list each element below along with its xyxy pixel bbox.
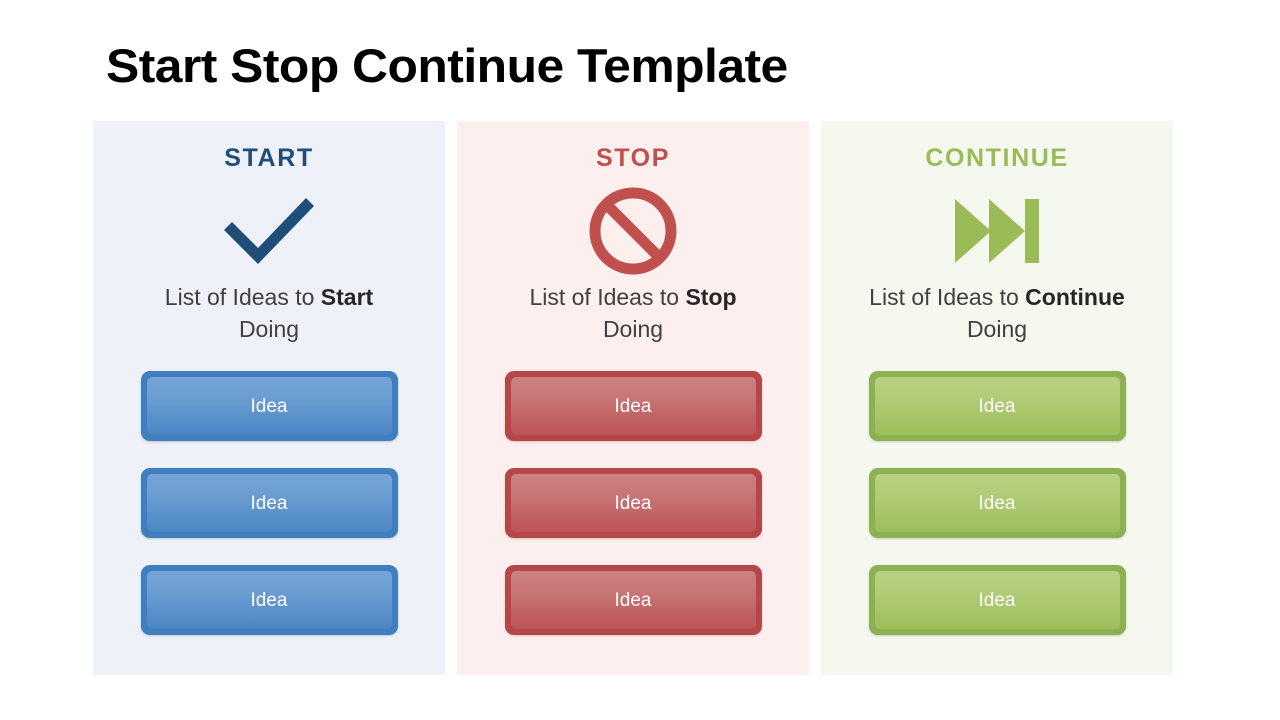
- caption-emphasis-continue: Continue: [1025, 284, 1125, 310]
- idea-button-label: Idea: [615, 494, 652, 513]
- idea-button[interactable]: Idea: [869, 565, 1126, 635]
- column-heading-continue: CONTINUE: [925, 146, 1068, 171]
- column-stop: STOP List of Ideas to Stop Doing Idea Id…: [457, 121, 809, 675]
- idea-button-label: Idea: [251, 494, 288, 513]
- caption-suffix-stop: Doing: [603, 316, 663, 342]
- idea-button[interactable]: Idea: [869, 371, 1126, 441]
- idea-button-label: Idea: [979, 591, 1016, 610]
- idea-button-label: Idea: [979, 397, 1016, 416]
- caption-suffix-start: Doing: [239, 316, 299, 342]
- idea-button[interactable]: Idea: [141, 468, 398, 538]
- idea-button-label: Idea: [251, 397, 288, 416]
- idea-button-label: Idea: [615, 397, 652, 416]
- caption-prefix-start: List of Ideas to: [165, 284, 321, 310]
- caption-suffix-continue: Doing: [967, 316, 1027, 342]
- idea-button-label: Idea: [979, 494, 1016, 513]
- caption-prefix-stop: List of Ideas to: [529, 284, 685, 310]
- column-heading-start: START: [224, 146, 313, 171]
- caption-prefix-continue: List of Ideas to: [869, 284, 1025, 310]
- column-continue: CONTINUE List of Ideas to Continue Doing…: [821, 121, 1173, 675]
- column-caption-stop: List of Ideas to Stop Doing: [498, 281, 768, 345]
- idea-button[interactable]: Idea: [505, 371, 762, 441]
- idea-list-stop: Idea Idea Idea: [505, 371, 762, 635]
- column-caption-continue: List of Ideas to Continue Doing: [862, 281, 1132, 345]
- idea-button-label: Idea: [251, 591, 288, 610]
- idea-button[interactable]: Idea: [141, 371, 398, 441]
- idea-button[interactable]: Idea: [141, 565, 398, 635]
- caption-emphasis-start: Start: [321, 284, 373, 310]
- columns-container: START List of Ideas to Start Doing Idea …: [93, 121, 1183, 675]
- idea-list-continue: Idea Idea Idea: [869, 371, 1126, 635]
- idea-button[interactable]: Idea: [505, 468, 762, 538]
- skip-forward-icon: [953, 183, 1041, 279]
- column-caption-start: List of Ideas to Start Doing: [134, 281, 404, 345]
- column-start: START List of Ideas to Start Doing Idea …: [93, 121, 445, 675]
- column-heading-stop: STOP: [596, 146, 670, 171]
- prohibition-sign-icon: [587, 183, 679, 279]
- idea-list-start: Idea Idea Idea: [141, 371, 398, 635]
- slide-canvas: Start Stop Continue Template START List …: [0, 0, 1280, 720]
- checkmark-icon: [218, 183, 320, 279]
- idea-button[interactable]: Idea: [869, 468, 1126, 538]
- idea-button-label: Idea: [615, 591, 652, 610]
- idea-button[interactable]: Idea: [505, 565, 762, 635]
- caption-emphasis-stop: Stop: [685, 284, 736, 310]
- page-title: Start Stop Continue Template: [106, 38, 788, 93]
